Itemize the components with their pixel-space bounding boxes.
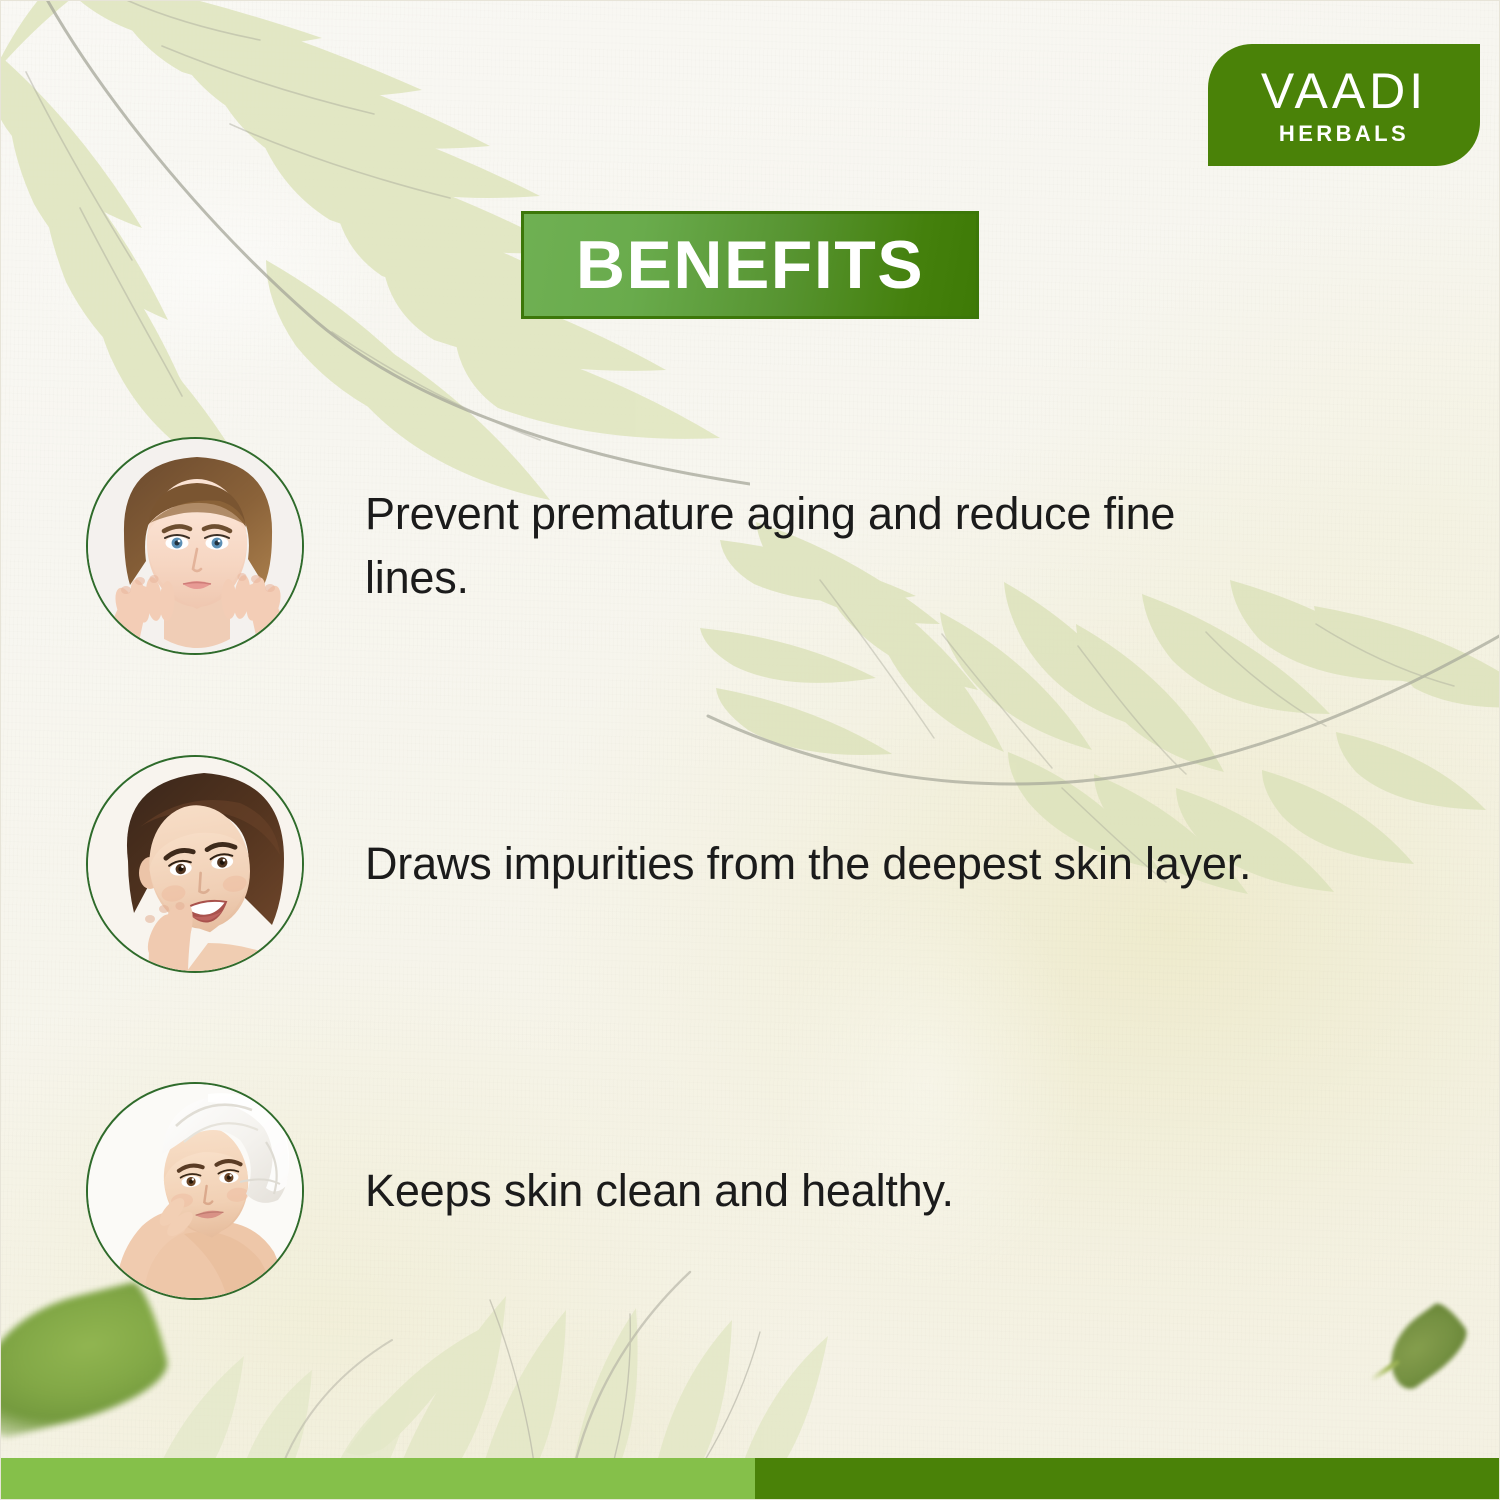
brand-logo-name: VAADI: [1261, 66, 1427, 116]
footer-bar-left-segment: [0, 1458, 755, 1500]
footer-bar: [0, 1458, 1500, 1500]
benefits-poster: VAADI HERBALS BENEFITS: [0, 0, 1500, 1500]
benefit-item-2: Draws impurities from the deepest skin l…: [0, 748, 1500, 980]
benefit-text-3: Keeps skin clean and healthy.: [365, 1159, 954, 1223]
benefit-item-1: Prevent premature aging and reduce fine …: [0, 430, 1500, 662]
brand-logo-tagline: HERBALS: [1279, 123, 1409, 145]
benefit-photo-face-hands: [86, 437, 304, 655]
benefit-item-3: Keeps skin clean and healthy.: [0, 1075, 1500, 1307]
benefit-text-2: Draws impurities from the deepest skin l…: [365, 832, 1251, 896]
footer-bar-right-segment: [755, 1458, 1500, 1500]
benefits-title-banner: BENEFITS: [521, 211, 979, 319]
benefit-photo-smiling-woman: [86, 755, 304, 973]
benefit-text-1: Prevent premature aging and reduce fine …: [365, 482, 1265, 610]
benefit-photo-towel-hair: [86, 1082, 304, 1300]
brand-logo[interactable]: VAADI HERBALS: [1208, 44, 1480, 166]
page-title: BENEFITS: [576, 231, 924, 299]
